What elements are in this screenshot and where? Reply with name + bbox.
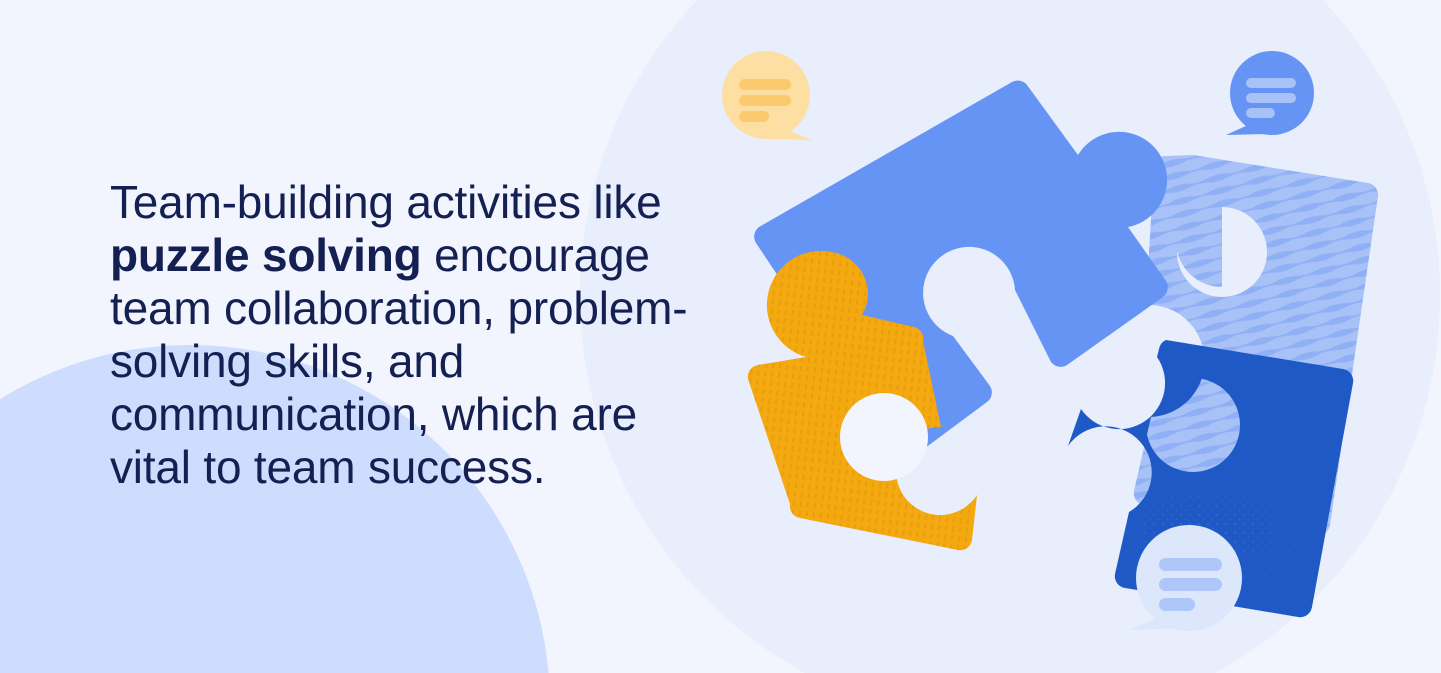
speech-bubble-blue-line-2 xyxy=(1246,93,1296,103)
speech-bubble-yellow-line-3 xyxy=(739,111,769,122)
headline-part1: Team-building activities like xyxy=(110,176,662,228)
speech-bubble-blue-line-3 xyxy=(1246,108,1275,118)
headline-emphasis: puzzle solving xyxy=(110,229,422,281)
copy-block: Team-building activities like puzzle sol… xyxy=(110,176,730,494)
speech-bubble-blue-line-1 xyxy=(1246,78,1296,88)
speech-bubble-pale-line-1 xyxy=(1159,558,1222,571)
speech-bubble-pale-line-2 xyxy=(1159,578,1222,591)
speech-bubble-yellow-line-1 xyxy=(739,79,791,90)
speech-bubble-blue xyxy=(1226,51,1314,135)
speech-bubble-yellow xyxy=(722,51,812,140)
page-title: Team-building activities like puzzle sol… xyxy=(110,176,730,494)
illustration-banner: Team-building activities like puzzle sol… xyxy=(0,0,1441,673)
speech-bubble-pale-line-3 xyxy=(1159,598,1195,611)
speech-bubble-yellow-line-2 xyxy=(739,95,791,106)
